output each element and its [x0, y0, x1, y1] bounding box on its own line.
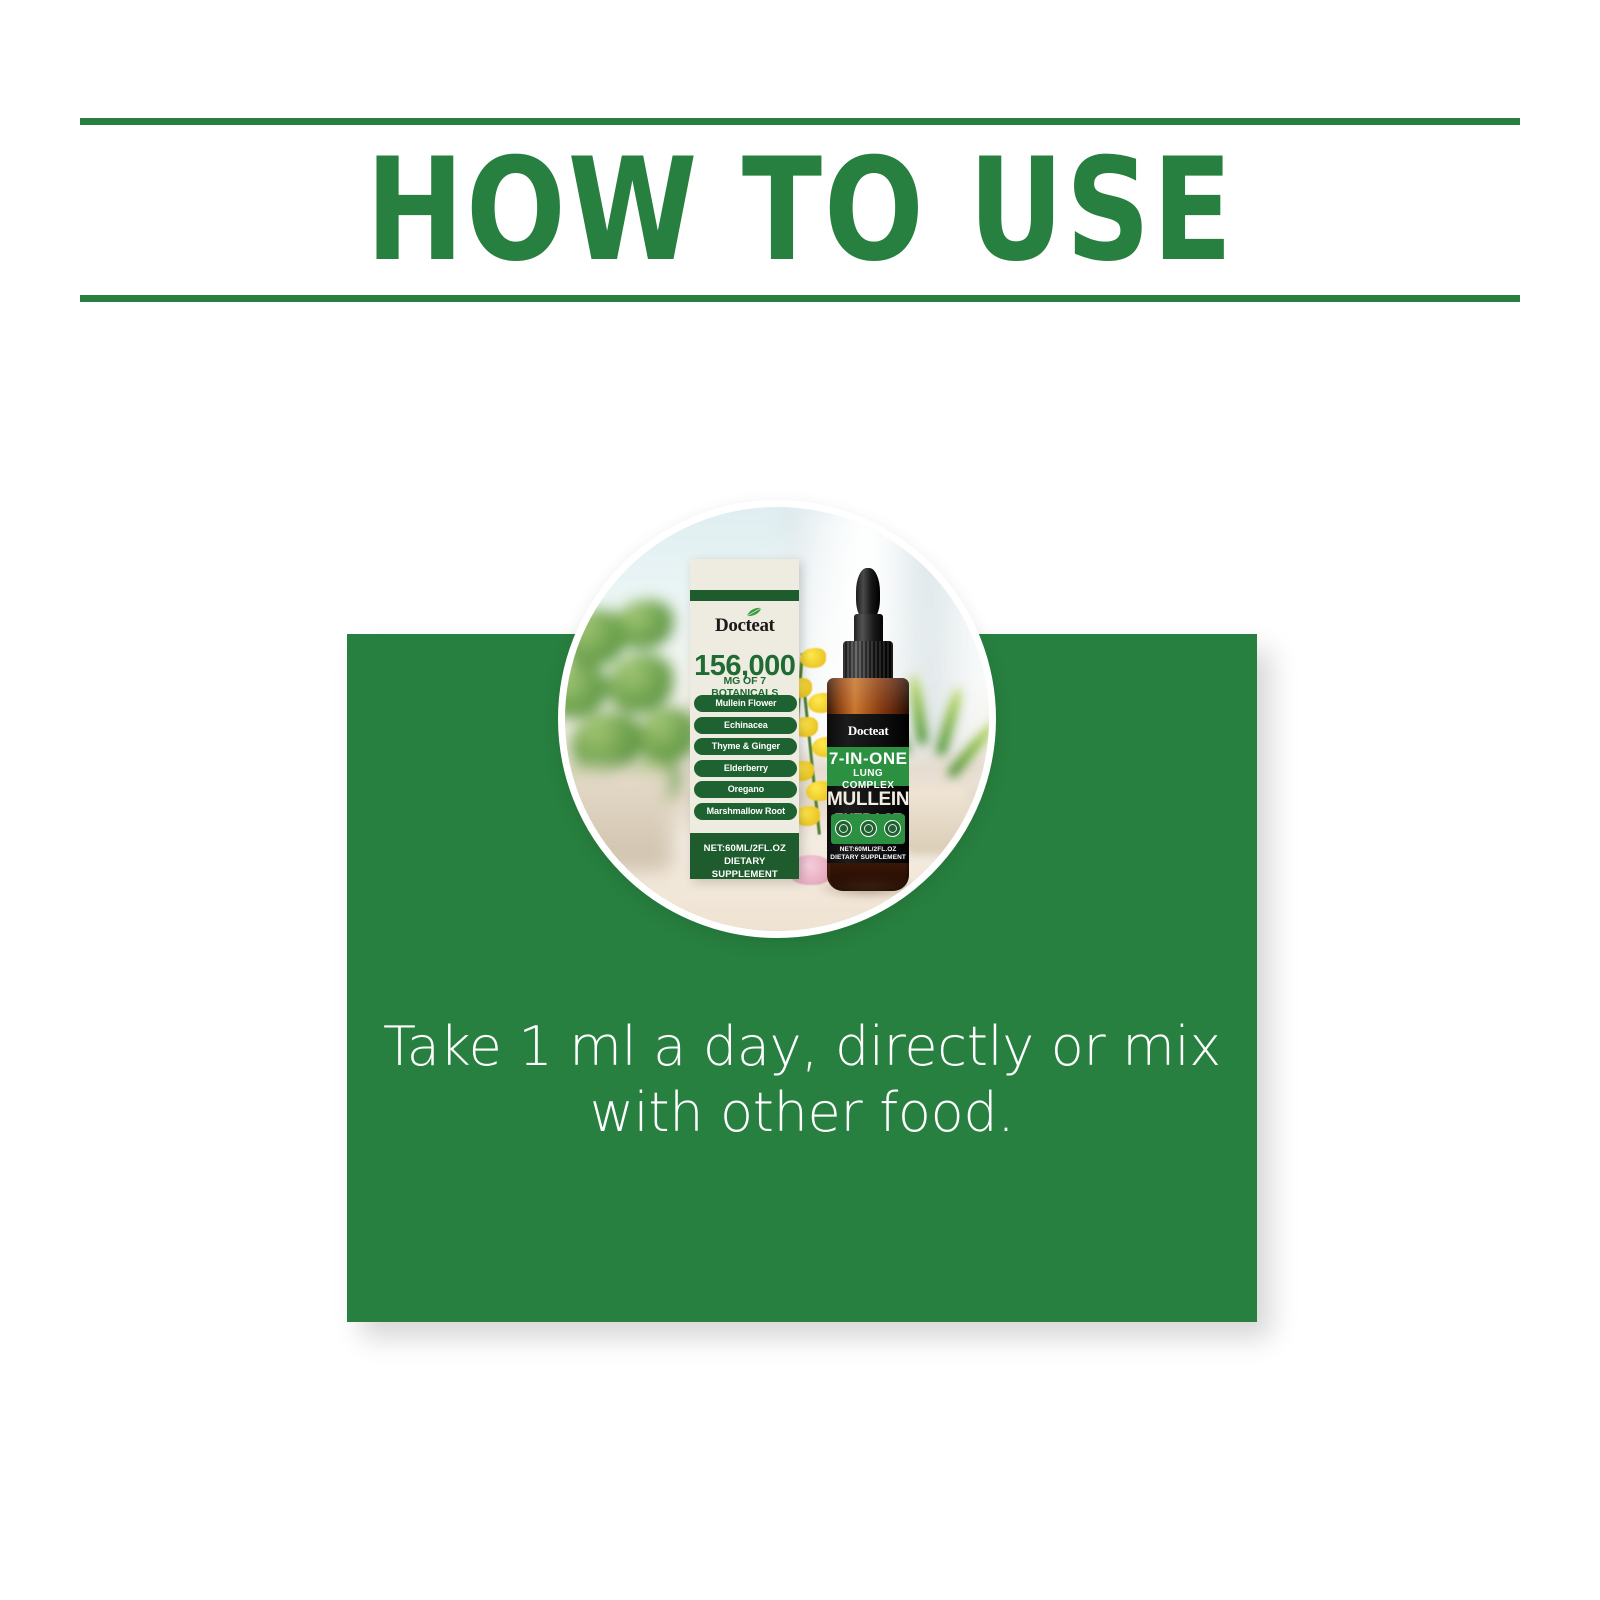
bottle-brand-name: Docteat — [827, 723, 909, 739]
box-ingredient-list: Mullein Flower Echinacea Thyme & Ginger … — [694, 695, 797, 824]
bottle-label: Docteat 7-IN-ONE LUNG COMPLEX MULLEIN EX… — [827, 714, 909, 863]
ingredient-pill: Marshmallow Root — [694, 803, 797, 820]
leaf-icon — [746, 607, 762, 617]
header-rule-top — [80, 118, 1520, 125]
product-bottle: Docteat 7-IN-ONE LUNG COMPLEX MULLEIN EX… — [819, 568, 917, 890]
product-photo-circle: Docteat 156,000 MG OF 7 BOTANICALS Mulle… — [558, 500, 996, 938]
bottle-certification-badges — [831, 814, 905, 844]
product-box: Docteat 156,000 MG OF 7 BOTANICALS Mulle… — [690, 559, 799, 879]
ingredient-pill: Mullein Flower — [694, 695, 797, 712]
background-plant-pot — [560, 767, 673, 870]
box-footer: NET:60ML/2FL.OZ DIETARY SUPPLEMENT — [690, 833, 799, 879]
dropper-cap — [843, 641, 894, 683]
page-title: HOW TO USE — [138, 125, 1463, 295]
badge-icon — [884, 820, 901, 837]
ingredient-pill: Thyme & Ginger — [694, 738, 797, 755]
bottle-band-headline: 7-IN-ONE — [827, 750, 909, 768]
dropper-bulb — [856, 568, 879, 620]
badge-icon — [835, 820, 852, 837]
bottle-product-name-line1: MULLEIN — [827, 789, 909, 810]
bottle-supplement-label: DIETARY SUPPLEMENT — [827, 854, 909, 862]
box-top-stripe — [690, 590, 799, 602]
bottle-net-info: NET:60ML/2FL.OZ DIETARY SUPPLEMENT — [827, 846, 909, 862]
box-brand-name: Docteat — [715, 615, 774, 636]
bottle-drop-shadow — [814, 875, 923, 901]
box-supplement-label: DIETARY SUPPLEMENT — [690, 855, 799, 879]
bottle-glass-highlight — [827, 678, 909, 712]
instruction-text: Take 1 ml a day, directly or mix with ot… — [347, 1014, 1257, 1146]
ingredient-pill: Echinacea — [694, 717, 797, 734]
page-header: HOW TO USE — [80, 118, 1520, 302]
badge-icon — [860, 820, 877, 837]
bottle-label-band: 7-IN-ONE LUNG COMPLEX — [827, 747, 909, 786]
ingredient-pill: Oregano — [694, 781, 797, 798]
bottle-net-volume: NET:60ML/2FL.OZ — [827, 846, 909, 854]
box-net-volume: NET:60ML/2FL.OZ — [690, 842, 799, 855]
bottle-glass: Docteat 7-IN-ONE LUNG COMPLEX MULLEIN EX… — [827, 678, 909, 891]
header-rule-bottom — [80, 295, 1520, 302]
ingredient-pill: Elderberry — [694, 760, 797, 777]
box-brand-wrap: Docteat — [690, 615, 799, 637]
